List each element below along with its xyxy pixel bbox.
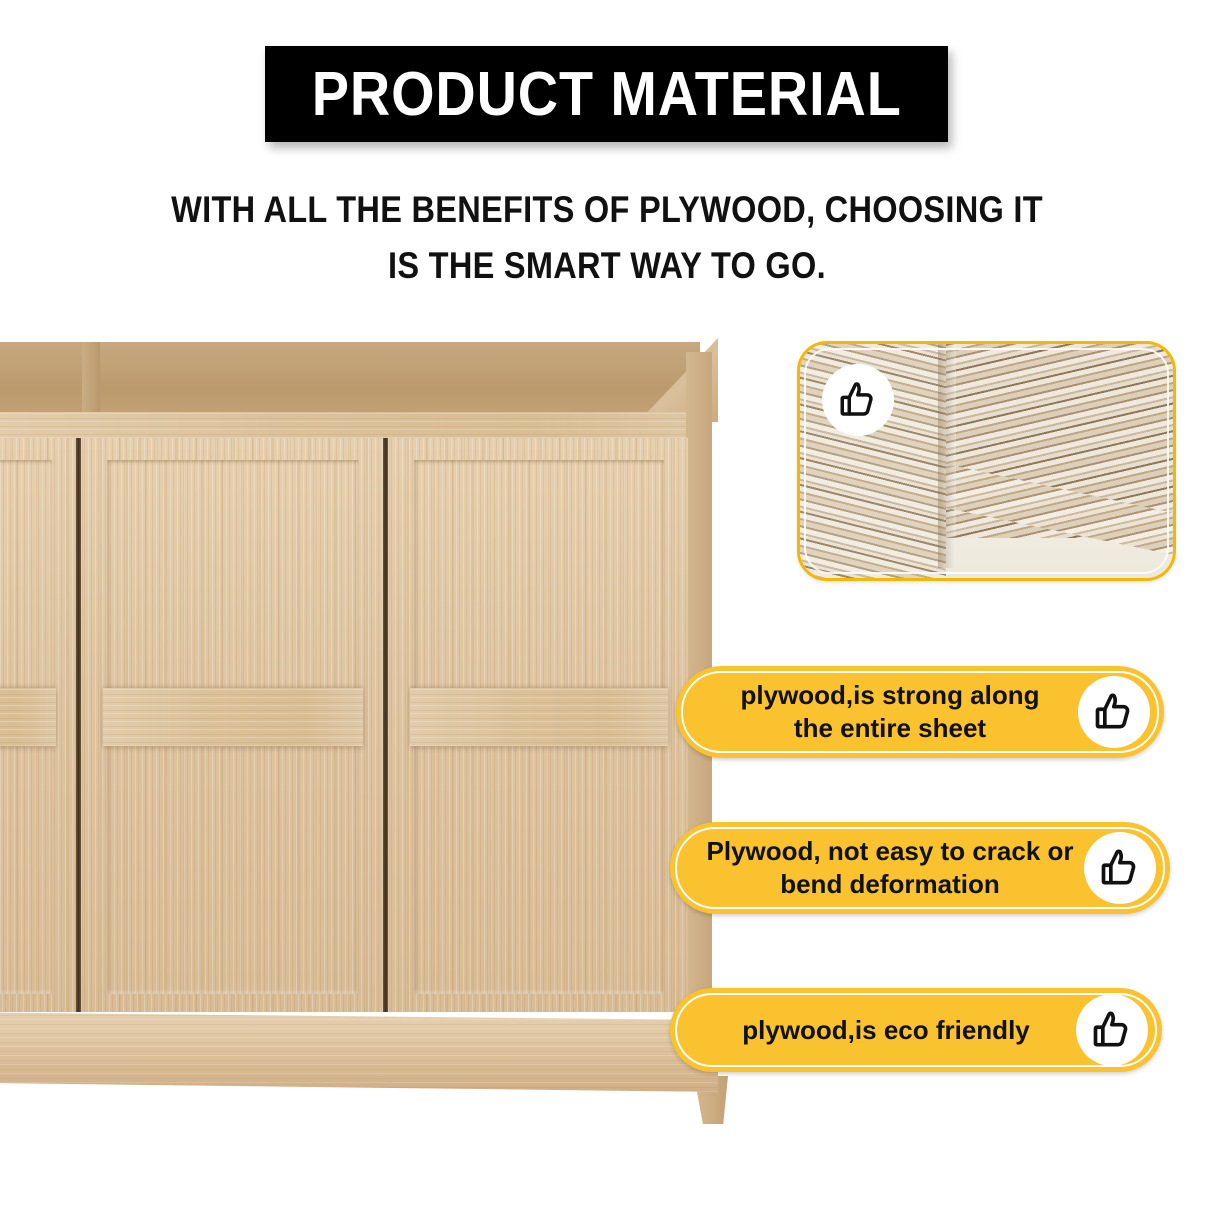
subtitle-line-2: IS THE SMART WAY TO GO. [73, 238, 1141, 294]
feature-pill-durability: Plywood, not easy to crack or bend defor… [670, 822, 1170, 914]
thumbs-up-icon [1076, 994, 1148, 1066]
plywood-corner-edge [938, 341, 956, 568]
thumbs-up-icon [1078, 676, 1150, 748]
door-rail [103, 688, 363, 746]
cabinet-door-partial [0, 438, 76, 1012]
cabinet-toe-kick [0, 1012, 718, 1092]
page-title: PRODUCT MATERIAL [312, 59, 902, 130]
feature-text-line-2: bend deformation [704, 868, 1076, 901]
cabinet-top-rail [0, 412, 712, 438]
feature-text-line-1: Plywood, not easy to crack or [704, 835, 1076, 868]
cabinet-product-photo [0, 334, 778, 1082]
cabinet-door-center [81, 438, 383, 1012]
cabinet-interior-divider [82, 342, 100, 420]
thumbs-up-icon [1084, 832, 1156, 904]
door-rail [410, 688, 668, 746]
subtitle-line-1: WITH ALL THE BENEFITS OF PLYWOOD, CHOOSI… [73, 182, 1141, 238]
title-banner: PRODUCT MATERIAL [265, 46, 948, 142]
door-rail [0, 688, 56, 746]
cabinet-interior [0, 342, 700, 420]
feature-text-line-2: the entire sheet [710, 712, 1070, 745]
feature-text-line-1: plywood,is strong along [710, 679, 1070, 712]
feature-pill-eco: plywood,is eco friendly [670, 988, 1162, 1072]
header-section: PRODUCT MATERIAL WITH ALL THE BENEFITS O… [0, 0, 1214, 300]
thumbs-up-glyph [1092, 690, 1136, 734]
thumbs-up-icon [822, 364, 894, 436]
plywood-closeup-card [797, 341, 1176, 581]
thumbs-up-glyph [1090, 1008, 1134, 1052]
thumbs-up-glyph [1098, 846, 1142, 890]
feature-pill-strength: plywood,is strong along the entire sheet [676, 666, 1164, 758]
thumbs-up-glyph [837, 379, 879, 421]
cabinet-door-right [388, 438, 688, 1012]
subtitle: WITH ALL THE BENEFITS OF PLYWOOD, CHOOSI… [0, 182, 1214, 294]
feature-text-line-1: plywood,is eco friendly [704, 1015, 1068, 1046]
feature-text: Plywood, not easy to crack or bend defor… [670, 835, 1084, 901]
feature-text: plywood,is strong along the entire sheet [676, 679, 1078, 745]
feature-text: plywood,is eco friendly [670, 1015, 1076, 1046]
